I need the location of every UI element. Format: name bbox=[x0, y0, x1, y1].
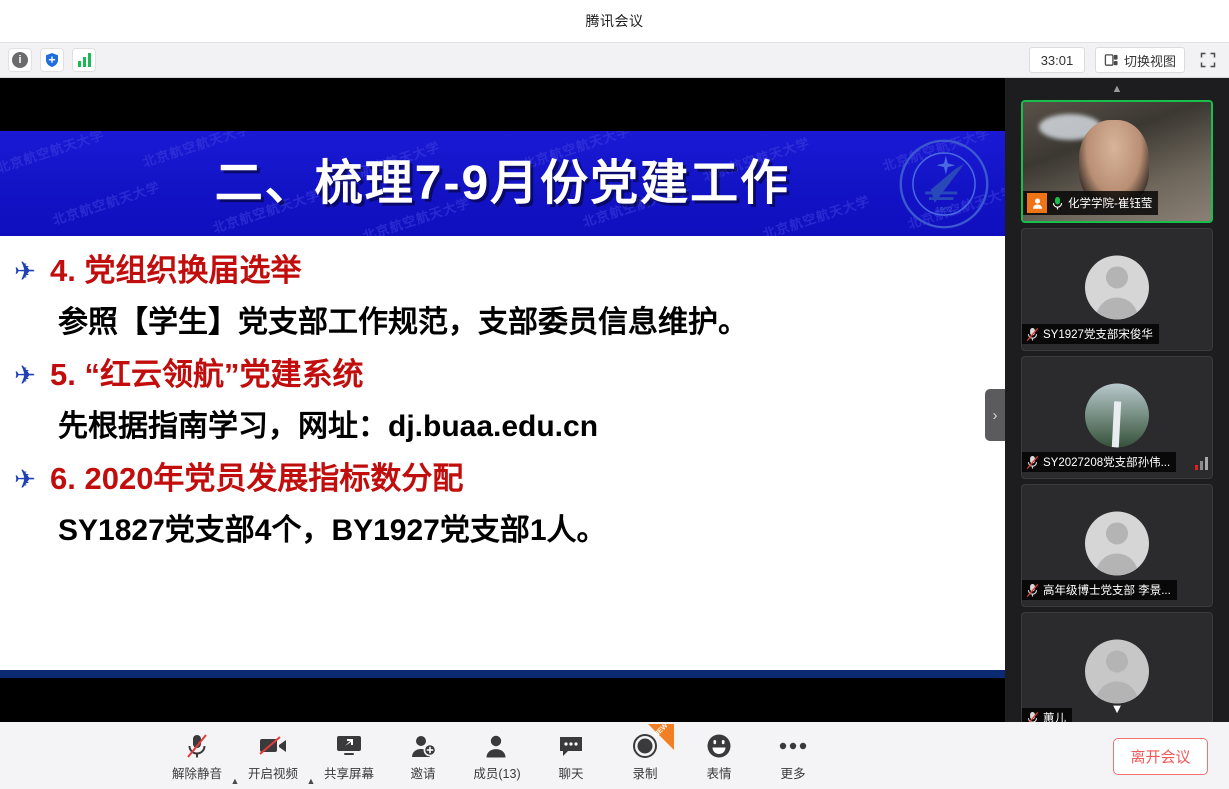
invite-button[interactable]: 邀请 bbox=[386, 726, 460, 782]
slide-item: ✈ 5. “红云领航”党建系统 bbox=[14, 350, 1005, 400]
emoji-label: 表情 bbox=[706, 763, 731, 782]
participant-name: 化学学院-崔钰莹 bbox=[1068, 195, 1152, 211]
participant-namebar: 高年级博士党支部 李景... bbox=[1022, 580, 1177, 600]
status-icon-group: i bbox=[8, 48, 96, 72]
emoji-icon bbox=[706, 732, 732, 760]
microphone-muted-icon bbox=[184, 732, 210, 760]
participant-tile[interactable]: 化学学院-崔钰莹 bbox=[1021, 100, 1213, 223]
info-icon: i bbox=[12, 52, 28, 68]
share-screen-icon bbox=[335, 732, 363, 760]
record-button[interactable]: NEW 录制 bbox=[608, 726, 682, 782]
control-button-group: 解除静音 ▲ 开启视频 ▲ bbox=[160, 726, 830, 786]
new-badge-label: NEW bbox=[653, 722, 670, 739]
tencent-meeting-window: 腾讯会议 i 33:01 bbox=[0, 0, 1229, 789]
emoji-button[interactable]: 表情 bbox=[682, 726, 756, 782]
slide-title: 二、梳理7-9月份党建工作 bbox=[0, 131, 1005, 236]
leave-meeting-button[interactable]: 离开会议 bbox=[1113, 738, 1208, 775]
participant-name: 高年级博士党支部 李景... bbox=[1043, 582, 1171, 598]
fullscreen-icon bbox=[1200, 52, 1216, 68]
participant-namebar: 化学学院-崔钰莹 bbox=[1023, 191, 1158, 215]
chat-label: 聊天 bbox=[558, 763, 583, 782]
avatar-head bbox=[1106, 266, 1128, 288]
slide-footer-bar bbox=[0, 670, 1005, 678]
more-label: 更多 bbox=[780, 763, 805, 782]
participant-name: 蕙儿 bbox=[1043, 710, 1066, 722]
participant-namebar: SY2027208党支部孙伟... bbox=[1022, 452, 1176, 472]
meeting-info-button[interactable]: i bbox=[8, 48, 32, 72]
new-badge: NEW bbox=[648, 724, 674, 750]
microphone-muted-icon bbox=[1026, 583, 1039, 598]
fullscreen-button[interactable] bbox=[1195, 47, 1221, 73]
avatar bbox=[1085, 511, 1149, 575]
participant-tile[interactable]: SY2027208党支部孙伟... bbox=[1021, 356, 1213, 479]
participant-tile[interactable]: SY1927党支部宋俊华 bbox=[1021, 228, 1213, 351]
participant-namebar: 蕙儿 bbox=[1022, 708, 1072, 722]
presentation-slide: 北京航空航天大学 北京航空航天大学 北京航空航天大学 北京航空航天大学 北京航空… bbox=[0, 131, 1005, 678]
ceiling-light bbox=[1039, 114, 1101, 140]
window-titlebar: 腾讯会议 bbox=[0, 0, 1229, 42]
svg-text:1952: 1952 bbox=[936, 205, 953, 214]
switch-view-button[interactable]: 切换视图 bbox=[1095, 47, 1185, 73]
host-badge-icon bbox=[1027, 193, 1047, 213]
university-logo-icon: 1952 bbox=[897, 137, 991, 231]
share-screen-label: 共享屏幕 bbox=[324, 763, 374, 782]
avatar-body bbox=[1096, 553, 1138, 575]
participant-tiles: 化学学院-崔钰莹 SY1927党支部宋俊华 bbox=[1005, 100, 1229, 722]
slide-item-heading: 6. 2020年党员发展指标数分配 bbox=[50, 454, 463, 504]
camera-off-icon bbox=[258, 732, 288, 760]
airplane-bullet-icon: ✈ bbox=[14, 454, 50, 504]
unmute-label: 解除静音 bbox=[172, 763, 222, 782]
invite-user-icon bbox=[410, 732, 437, 760]
participants-label: 成员(13) bbox=[473, 763, 520, 782]
avatar-head bbox=[1106, 650, 1128, 672]
microphone-muted-icon bbox=[1026, 327, 1039, 342]
avatar bbox=[1085, 639, 1149, 703]
slide-item: ✈ 6. 2020年党员发展指标数分配 bbox=[14, 454, 1005, 504]
switch-view-icon bbox=[1104, 53, 1119, 68]
avatar bbox=[1085, 255, 1149, 319]
slide-item-sub: 先根据指南学习，网址：dj.buaa.edu.cn bbox=[14, 400, 1005, 454]
invite-label: 邀请 bbox=[410, 763, 435, 782]
window-title: 腾讯会议 bbox=[586, 11, 644, 31]
start-video-label: 开启视频 bbox=[248, 763, 298, 782]
roster-scroll-down-button[interactable]: ▼ bbox=[1111, 701, 1124, 716]
signal-bars-icon bbox=[78, 53, 91, 67]
slide-content: ✈ 4. 党组织换届选举 参照【学生】党支部工作规范，支部委员信息维护。 ✈ 5… bbox=[0, 236, 1005, 558]
participant-strip: ▲ 化学学院-崔钰莹 bbox=[1005, 78, 1229, 722]
avatar-body bbox=[1096, 681, 1138, 703]
security-button[interactable] bbox=[40, 48, 64, 72]
share-screen-button[interactable]: 共享屏幕 bbox=[312, 726, 386, 782]
airplane-bullet-icon: ✈ bbox=[14, 246, 50, 296]
more-dots-icon bbox=[779, 732, 807, 760]
avatar-head bbox=[1106, 522, 1128, 544]
chat-icon bbox=[558, 732, 584, 760]
slide-item-sub: 参照【学生】党支部工作规范，支部委员信息维护。 bbox=[14, 296, 1005, 350]
participant-tile[interactable]: 高年级博士党支部 李景... bbox=[1021, 484, 1213, 607]
network-quality-button[interactable] bbox=[72, 48, 96, 72]
roster-scroll-up-button[interactable]: ▲ bbox=[1005, 78, 1229, 100]
shared-screen-stage: 北京航空航天大学 北京航空航天大学 北京航空航天大学 北京航空航天大学 北京航空… bbox=[0, 78, 1005, 722]
meeting-info-toolbar: i 33:01 切换视图 bbox=[0, 42, 1229, 78]
airplane-bullet-icon: ✈ bbox=[14, 350, 50, 400]
slide-title-banner: 北京航空航天大学 北京航空航天大学 北京航空航天大学 北京航空航天大学 北京航空… bbox=[0, 131, 1005, 236]
avatar bbox=[1085, 383, 1149, 447]
participant-name: SY1927党支部宋俊华 bbox=[1043, 326, 1153, 342]
expand-panel-chevron-icon[interactable]: › bbox=[985, 389, 1005, 441]
network-signal-icon bbox=[1195, 456, 1208, 470]
record-label: 录制 bbox=[632, 763, 657, 782]
record-icon: NEW bbox=[632, 732, 658, 760]
shield-add-icon bbox=[44, 52, 60, 68]
participants-button[interactable]: 成员(13) bbox=[460, 726, 534, 782]
meeting-control-bar: 解除静音 ▲ 开启视频 ▲ bbox=[0, 722, 1229, 789]
more-button[interactable]: 更多 bbox=[756, 726, 830, 782]
meeting-timer: 33:01 bbox=[1029, 47, 1085, 73]
microphone-muted-icon bbox=[1026, 711, 1039, 723]
toolbar-right-group: 33:01 切换视图 bbox=[1029, 47, 1221, 73]
switch-view-label: 切换视图 bbox=[1124, 51, 1176, 70]
slide-item-heading: 4. 党组织换届选举 bbox=[50, 246, 301, 296]
start-video-button[interactable]: 开启视频 bbox=[236, 726, 310, 782]
participant-name: SY2027208党支部孙伟... bbox=[1043, 454, 1170, 470]
microphone-on-icon bbox=[1051, 196, 1064, 211]
unmute-button[interactable]: 解除静音 bbox=[160, 726, 234, 782]
slide-item-sub: SY1827党支部4个，BY1927党支部1人。 bbox=[14, 504, 1005, 558]
microphone-muted-icon bbox=[1026, 455, 1039, 470]
participant-namebar: SY1927党支部宋俊华 bbox=[1022, 324, 1159, 344]
slide-item: ✈ 4. 党组织换届选举 bbox=[14, 246, 1005, 296]
participants-icon bbox=[484, 732, 510, 760]
chat-button[interactable]: 聊天 bbox=[534, 726, 608, 782]
avatar-body bbox=[1096, 297, 1138, 319]
slide-item-heading: 5. “红云领航”党建系统 bbox=[50, 350, 363, 400]
